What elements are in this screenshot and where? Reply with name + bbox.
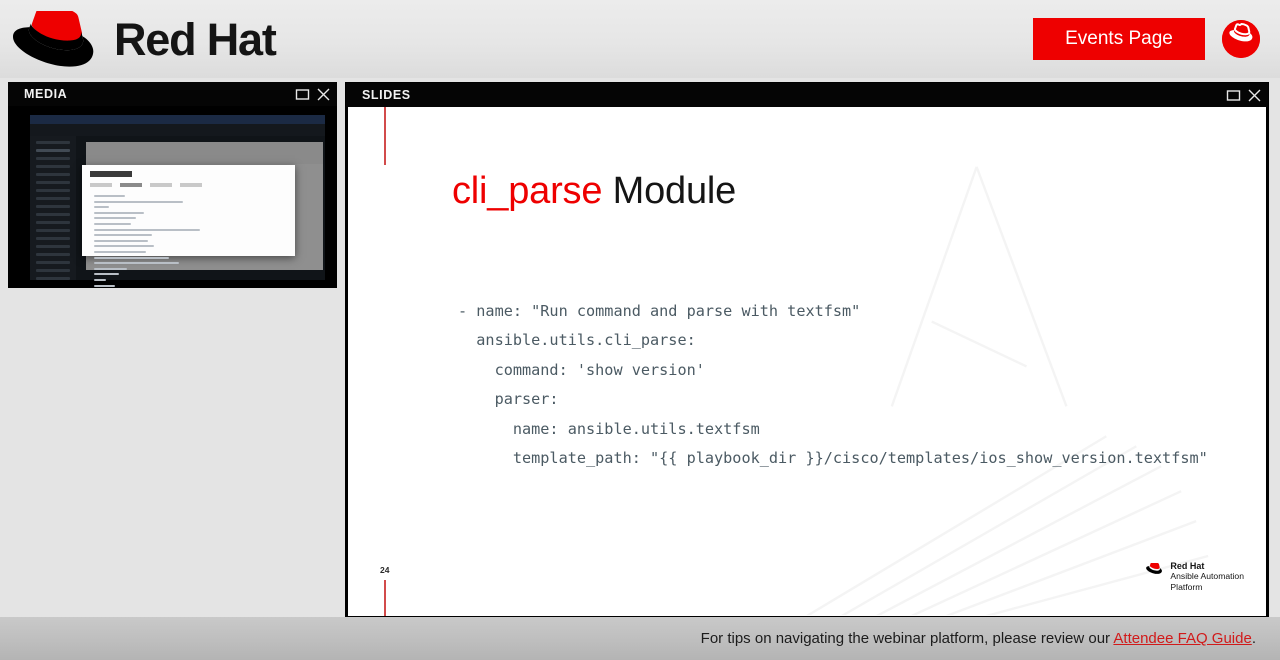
slide-title-keyword: cli_parse xyxy=(452,170,602,212)
slide-canvas[interactable]: cli_parse Module - name: "Run command an… xyxy=(348,107,1266,616)
logo-line-3: Platform xyxy=(1170,582,1244,593)
ansible-automation-platform-logo: Red Hat Ansible Automation Platform xyxy=(1145,561,1244,593)
slide-page-number: 24 xyxy=(380,565,389,575)
media-panel: MEDIA xyxy=(8,82,337,288)
logo-text: Red Hat Ansible Automation Platform xyxy=(1170,561,1244,593)
slide-code-block: - name: "Run command and parse with text… xyxy=(458,297,1208,473)
slide-title-rest: Module xyxy=(602,170,736,212)
webinar-page: Red Hat Events Page MEDIA xyxy=(0,0,1280,660)
slide-accent-top xyxy=(384,107,386,165)
slide-title: cli_parse Module xyxy=(452,170,736,213)
footer-tip-text: For tips on navigating the webinar platf… xyxy=(701,630,1256,647)
footer-text-before: For tips on navigating the webinar platf… xyxy=(701,630,1114,647)
slides-panel-controls xyxy=(1226,88,1262,103)
slides-panel-titlebar: SLIDES xyxy=(346,83,1268,107)
slides-panel-title: SLIDES xyxy=(362,88,411,102)
logo-line-2: Ansible Automation xyxy=(1170,571,1244,582)
media-panel-controls xyxy=(295,87,331,102)
brand: Red Hat xyxy=(0,11,276,67)
brand-name: Red Hat xyxy=(114,17,276,62)
slide-accent-bottom xyxy=(384,580,386,616)
media-panel-title: MEDIA xyxy=(24,87,67,101)
media-video-area[interactable] xyxy=(8,106,337,288)
page-header: Red Hat Events Page xyxy=(0,0,1280,78)
header-actions: Events Page xyxy=(1033,18,1280,60)
redhat-shadowman-icon[interactable] xyxy=(1222,20,1260,58)
restore-window-icon[interactable] xyxy=(295,88,310,101)
screen-share-thumbnail xyxy=(8,106,337,288)
redhat-fedora-logo-icon xyxy=(1145,561,1165,579)
events-page-button[interactable]: Events Page xyxy=(1033,18,1205,60)
attendee-faq-guide-link[interactable]: Attendee FAQ Guide xyxy=(1113,630,1251,647)
close-icon[interactable] xyxy=(1247,88,1262,103)
logo-line-1: Red Hat xyxy=(1170,561,1244,572)
slides-panel: SLIDES xyxy=(345,82,1269,617)
media-panel-titlebar: MEDIA xyxy=(8,82,337,106)
footer-text-after: . xyxy=(1252,630,1256,647)
redhat-fedora-logo-icon xyxy=(8,11,108,67)
page-footer: For tips on navigating the webinar platf… xyxy=(0,617,1280,660)
restore-window-icon[interactable] xyxy=(1226,89,1241,102)
close-icon[interactable] xyxy=(316,87,331,102)
